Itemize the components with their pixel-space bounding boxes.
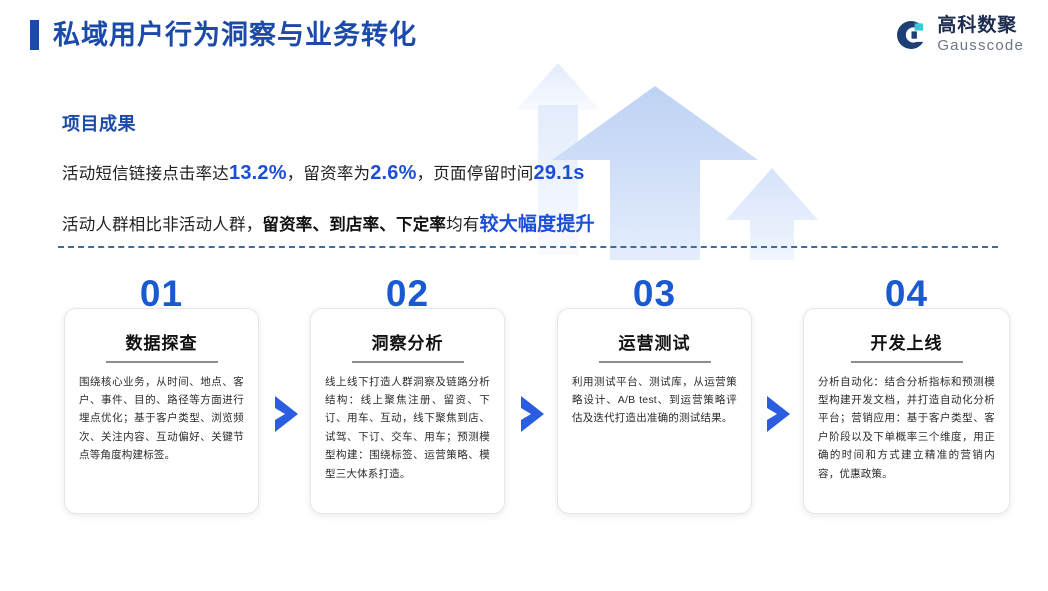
results-line1-seg3: ，页面停留时间 bbox=[417, 165, 534, 183]
results-line1-seg1: 活动短信链接点击率达 bbox=[62, 165, 229, 183]
step-number-4: 04 bbox=[804, 275, 1009, 312]
slide-root: 私域用户行为洞察与业务转化 高科数聚 Gausscode 项目成果 活动短信链接… bbox=[0, 0, 1048, 591]
brand-name-en: Gausscode bbox=[937, 38, 1024, 53]
header: 私域用户行为洞察与业务转化 高科数聚 Gausscode bbox=[0, 0, 1048, 78]
brand-name-cn: 高科数聚 bbox=[937, 16, 1024, 35]
process-steps: 01 数据探查 围绕核心业务，从时间、地点、客户、事件、目的、路径等方面进行埋点… bbox=[0, 272, 1048, 532]
step-body-3: 利用测试平台、测试库，从运营策略设计、A/B test、到运营策略评估及迭代打造… bbox=[572, 373, 737, 428]
results-line2-seg2: 均有 bbox=[446, 216, 479, 234]
page-title: 私域用户行为洞察与业务转化 bbox=[53, 22, 417, 49]
title-accent-bar bbox=[30, 20, 39, 50]
step-rule-2 bbox=[352, 361, 464, 363]
results-line2-seg1: 活动人群相比非活动人群， bbox=[62, 216, 262, 234]
step-title-1: 数据探查 bbox=[79, 335, 244, 354]
step-title-4: 开发上线 bbox=[818, 335, 995, 354]
metric-click-rate: 13.2% bbox=[229, 162, 287, 184]
gausscode-logo-icon bbox=[894, 18, 928, 52]
step-title-2: 洞察分析 bbox=[325, 335, 490, 354]
results-line-2: 活动人群相比非活动人群，留资率、到店率、下定率均有较大幅度提升 bbox=[62, 209, 595, 236]
step-card-4[interactable]: 04 开发上线 分析自动化：结合分析指标和预测模型构建开发文档，并打造自动化分析… bbox=[803, 308, 1010, 514]
results-line1-seg2: ，留资率为 bbox=[287, 165, 371, 183]
chevron-right-icon-1 bbox=[272, 394, 302, 434]
step-card-2[interactable]: 02 洞察分析 线上线下打造人群洞察及链路分析结构：线上聚焦注册、留资、下订、用… bbox=[310, 308, 505, 514]
step-card-3[interactable]: 03 运营测试 利用测试平台、测试库，从运营策略设计、A/B test、到运营策… bbox=[557, 308, 752, 514]
step-title-3: 运营测试 bbox=[572, 335, 737, 354]
brand-logo: 高科数聚 Gausscode bbox=[894, 16, 1024, 53]
step-card-1[interactable]: 01 数据探查 围绕核心业务，从时间、地点、客户、事件、目的、路径等方面进行埋点… bbox=[64, 308, 259, 514]
results-line2-highlight: 较大幅度提升 bbox=[480, 214, 595, 235]
step-number-1: 01 bbox=[65, 275, 258, 312]
brand-logo-text: 高科数聚 Gausscode bbox=[937, 16, 1024, 53]
step-rule-3 bbox=[599, 361, 711, 363]
section-divider bbox=[58, 246, 998, 248]
chevron-right-icon-2 bbox=[518, 394, 548, 434]
step-number-2: 02 bbox=[311, 275, 504, 312]
step-body-4: 分析自动化：结合分析指标和预测模型构建开发文档，并打造自动化分析平台；营销应用：… bbox=[818, 373, 995, 483]
results-line-1: 活动短信链接点击率达13.2%，留资率为2.6%，页面停留时间29.1s bbox=[62, 160, 595, 185]
step-body-1: 围绕核心业务，从时间、地点、客户、事件、目的、路径等方面进行埋点优化；基于客户类… bbox=[79, 373, 244, 465]
chevron-right-icon-3 bbox=[764, 394, 794, 434]
step-body-2: 线上线下打造人群洞察及链路分析结构：线上聚焦注册、留资、下订、用车、互动，线下聚… bbox=[325, 373, 490, 483]
step-rule-4 bbox=[851, 361, 963, 363]
step-rule-1 bbox=[106, 361, 218, 363]
results-heading: 项目成果 bbox=[62, 110, 595, 136]
page-title-wrap: 私域用户行为洞察与业务转化 bbox=[30, 20, 417, 50]
results-line2-bold: 留资率、到店率、下定率 bbox=[262, 216, 446, 234]
step-number-3: 03 bbox=[558, 275, 751, 312]
project-results-block: 项目成果 活动短信链接点击率达13.2%，留资率为2.6%，页面停留时间29.1… bbox=[62, 110, 595, 236]
metric-lead-rate: 2.6% bbox=[370, 162, 416, 184]
metric-dwell-time: 29.1s bbox=[534, 162, 585, 184]
